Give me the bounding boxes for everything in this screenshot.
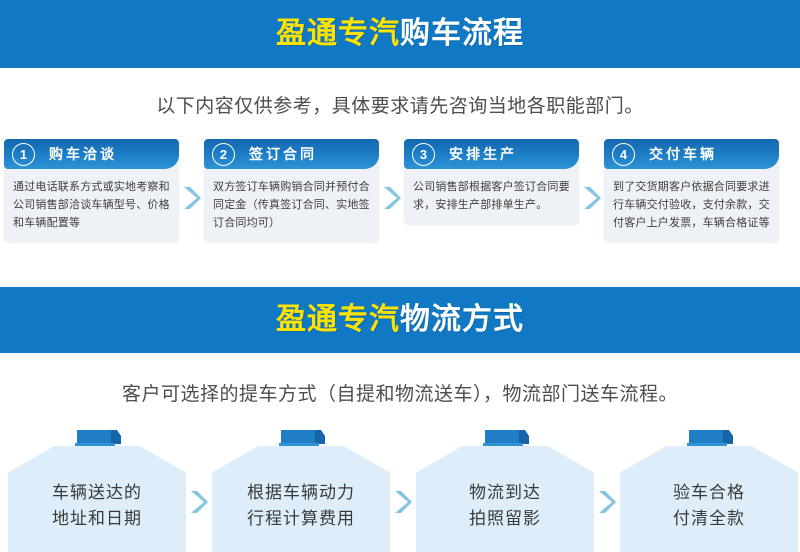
chevron-right-icon-6 [594,426,620,552]
chevron-right-icon-2 [379,139,404,257]
logistics-step-line1-1: 车辆送达的 [52,480,142,506]
purchase-banner-brand: 盈通专汽 [276,17,400,50]
chevron-right-icon-4 [186,426,212,552]
purchase-banner-title: 盈通专汽购车流程 [276,19,524,49]
step-number-badge-2: 2 [212,143,235,166]
purchase-step-header-3: 3 安排生产 [404,139,579,169]
logistics-step-panel-2: 根据车辆动力 行程计算费用 [212,446,390,552]
logistics-step-3[interactable]: 物流到达 拍照留影 [416,426,594,552]
purchase-step-card-3[interactable]: 3 安排生产 公司销售部根据客户签订合同要求，安排生产部排单生产。 [404,139,579,224]
logistics-banner-rest: 物流方式 [400,303,524,336]
purchase-step-body-2: 双方签订车辆购销合同并预付合同定金（传真签订合同、实地签订合同均可） [204,169,379,242]
purchase-step-title-3: 安排生产 [449,144,517,164]
logistics-banner-brand: 盈通专汽 [276,303,400,336]
logistics-banner-title: 盈通专汽物流方式 [276,305,524,335]
purchase-step-body-3: 公司销售部根据客户签订合同要求，安排生产部排单生产。 [404,169,579,224]
step-number-badge-1: 1 [12,143,35,166]
step-number-badge-3: 3 [412,143,435,166]
logistics-step-line1-2: 根据车辆动力 [247,480,355,506]
logistics-step-1[interactable]: 车辆送达的 地址和日期 [8,426,186,552]
logistics-step-line1-3: 物流到达 [469,480,541,506]
purchase-step-header-2: 2 签订合同 [204,139,379,169]
chevron-right-icon-5 [390,426,416,552]
purchase-banner-rest: 购车流程 [400,17,524,50]
purchase-step-header-1: 1 购车洽谈 [4,139,179,169]
purchase-step-title-4: 交付车辆 [649,144,717,164]
logistics-step-panel-3: 物流到达 拍照留影 [416,446,594,552]
chevron-right-icon-1 [179,139,204,257]
purchase-step-body-1: 通过电话联系方式或实地考察和公司销售部洽谈车辆型号、价格和车辆配置等 [4,169,179,242]
chevron-right-icon-3 [579,139,604,257]
purchase-banner: 盈通专汽购车流程 [0,0,800,68]
purchase-step-body-4: 到了交货期客户依据合同要求进行车辆交付验收，支付余款，交付客户上户发票，车辆合格… [604,169,779,242]
purchase-step-title-2: 签订合同 [249,144,317,164]
logistics-step-4[interactable]: 验车合格 付清全款 [620,426,798,552]
logistics-step-2[interactable]: 根据车辆动力 行程计算费用 [212,426,390,552]
purchase-step-header-4: 4 交付车辆 [604,139,779,169]
logistics-step-panel-4: 验车合格 付清全款 [620,446,798,552]
logistics-step-line2-4: 付清全款 [673,506,745,532]
purchase-step-title-1: 购车洽谈 [49,144,117,164]
logistics-step-line2-3: 拍照留影 [469,506,541,532]
logistics-step-line2-1: 地址和日期 [52,506,142,532]
purchase-subtitle: 以下内容仅供参考，具体要求请先咨询当地各职能部门。 [0,68,800,139]
logistics-subtitle: 客户可选择的提车方式（自提和物流送车），物流部门送车流程。 [0,353,800,426]
logistics-step-panel-1: 车辆送达的 地址和日期 [8,446,186,552]
logistics-step-line1-4: 验车合格 [673,480,745,506]
logistics-step-line2-2: 行程计算费用 [247,506,355,532]
step-number-badge-4: 4 [612,143,635,166]
purchase-steps-row: 1 购车洽谈 通过电话联系方式或实地考察和公司销售部洽谈车辆型号、价格和车辆配置… [0,139,800,257]
purchase-step-card-2[interactable]: 2 签订合同 双方签订车辆购销合同并预付合同定金（传真签订合同、实地签订合同均可… [204,139,379,242]
logistics-banner: 盈通专汽物流方式 [0,287,800,353]
purchase-step-card-4[interactable]: 4 交付车辆 到了交货期客户依据合同要求进行车辆交付验收，支付余款，交付客户上户… [604,139,779,242]
logistics-steps-row: 车辆送达的 地址和日期 根据车辆动力 行程计算费用 [0,426,800,552]
purchase-step-card-1[interactable]: 1 购车洽谈 通过电话联系方式或实地考察和公司销售部洽谈车辆型号、价格和车辆配置… [4,139,179,242]
